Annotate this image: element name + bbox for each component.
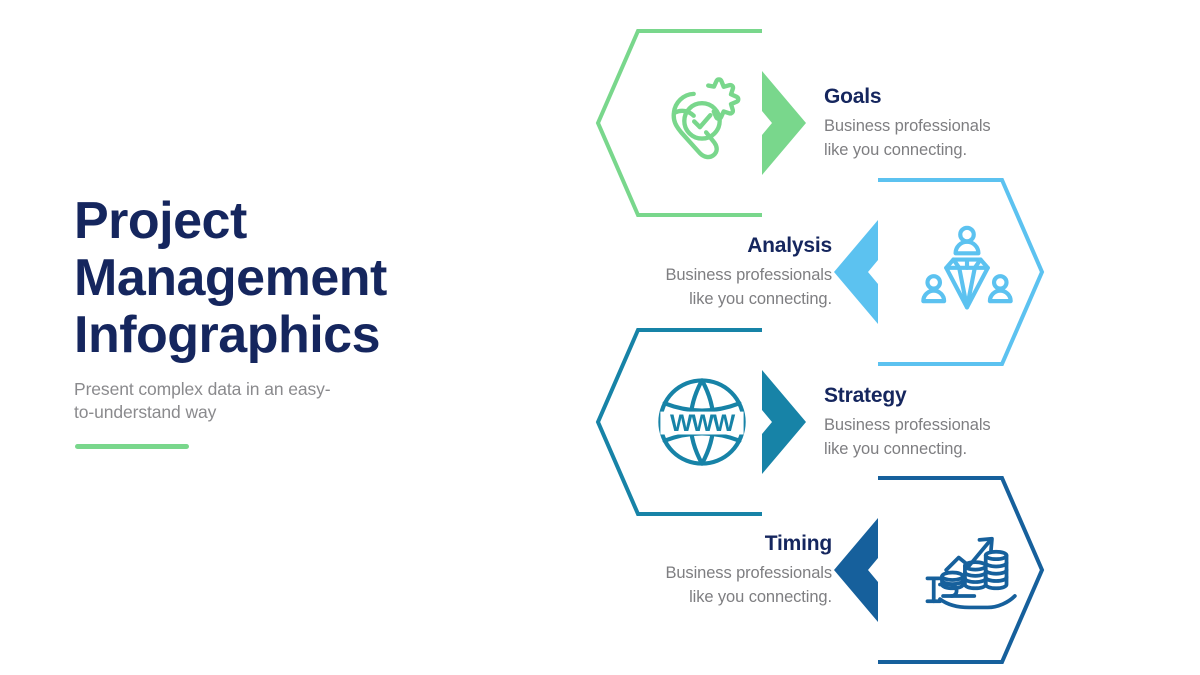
step-description-strategy: Business professionals like you connecti… bbox=[824, 413, 1054, 461]
icon-timing bbox=[915, 518, 1019, 622]
page-title: Project Management Infographics bbox=[74, 193, 474, 364]
step-title-analysis: Analysis bbox=[610, 233, 832, 258]
text-block-goals: Goals Business professionals like you co… bbox=[824, 84, 1054, 162]
www-globe-icon: WWW bbox=[650, 370, 754, 474]
step-title-strategy: Strategy bbox=[824, 383, 1054, 408]
diamond-team-icon bbox=[915, 220, 1019, 324]
step-row-timing[interactable]: Timing Business professionals like you c… bbox=[620, 470, 1050, 670]
step-title-timing: Timing bbox=[610, 531, 832, 556]
accent-rule bbox=[75, 444, 189, 449]
page-subtitle: Present complex data in an easy- to-unde… bbox=[74, 378, 474, 424]
gear-check-shield-icon bbox=[650, 71, 754, 175]
svg-text:WWW: WWW bbox=[670, 410, 736, 437]
step-title-goals: Goals bbox=[824, 84, 1054, 109]
text-block-timing: Timing Business professionals like you c… bbox=[610, 531, 832, 609]
title-block: Project Management Infographics Present … bbox=[74, 193, 474, 424]
step-description-analysis: Business professionals like you connecti… bbox=[610, 263, 832, 311]
step-description-timing: Business professionals like you connecti… bbox=[610, 561, 832, 609]
icon-analysis bbox=[915, 220, 1019, 324]
text-block-analysis: Analysis Business professionals like you… bbox=[610, 233, 832, 311]
step-description-goals: Business professionals like you connecti… bbox=[824, 114, 1054, 162]
hand-coins-growth-icon bbox=[915, 518, 1019, 622]
icon-goals bbox=[650, 71, 754, 175]
infographic-slide: Project Management Infographics Present … bbox=[0, 0, 1200, 675]
text-block-strategy: Strategy Business professionals like you… bbox=[824, 383, 1054, 461]
icon-strategy: WWW bbox=[650, 370, 754, 474]
